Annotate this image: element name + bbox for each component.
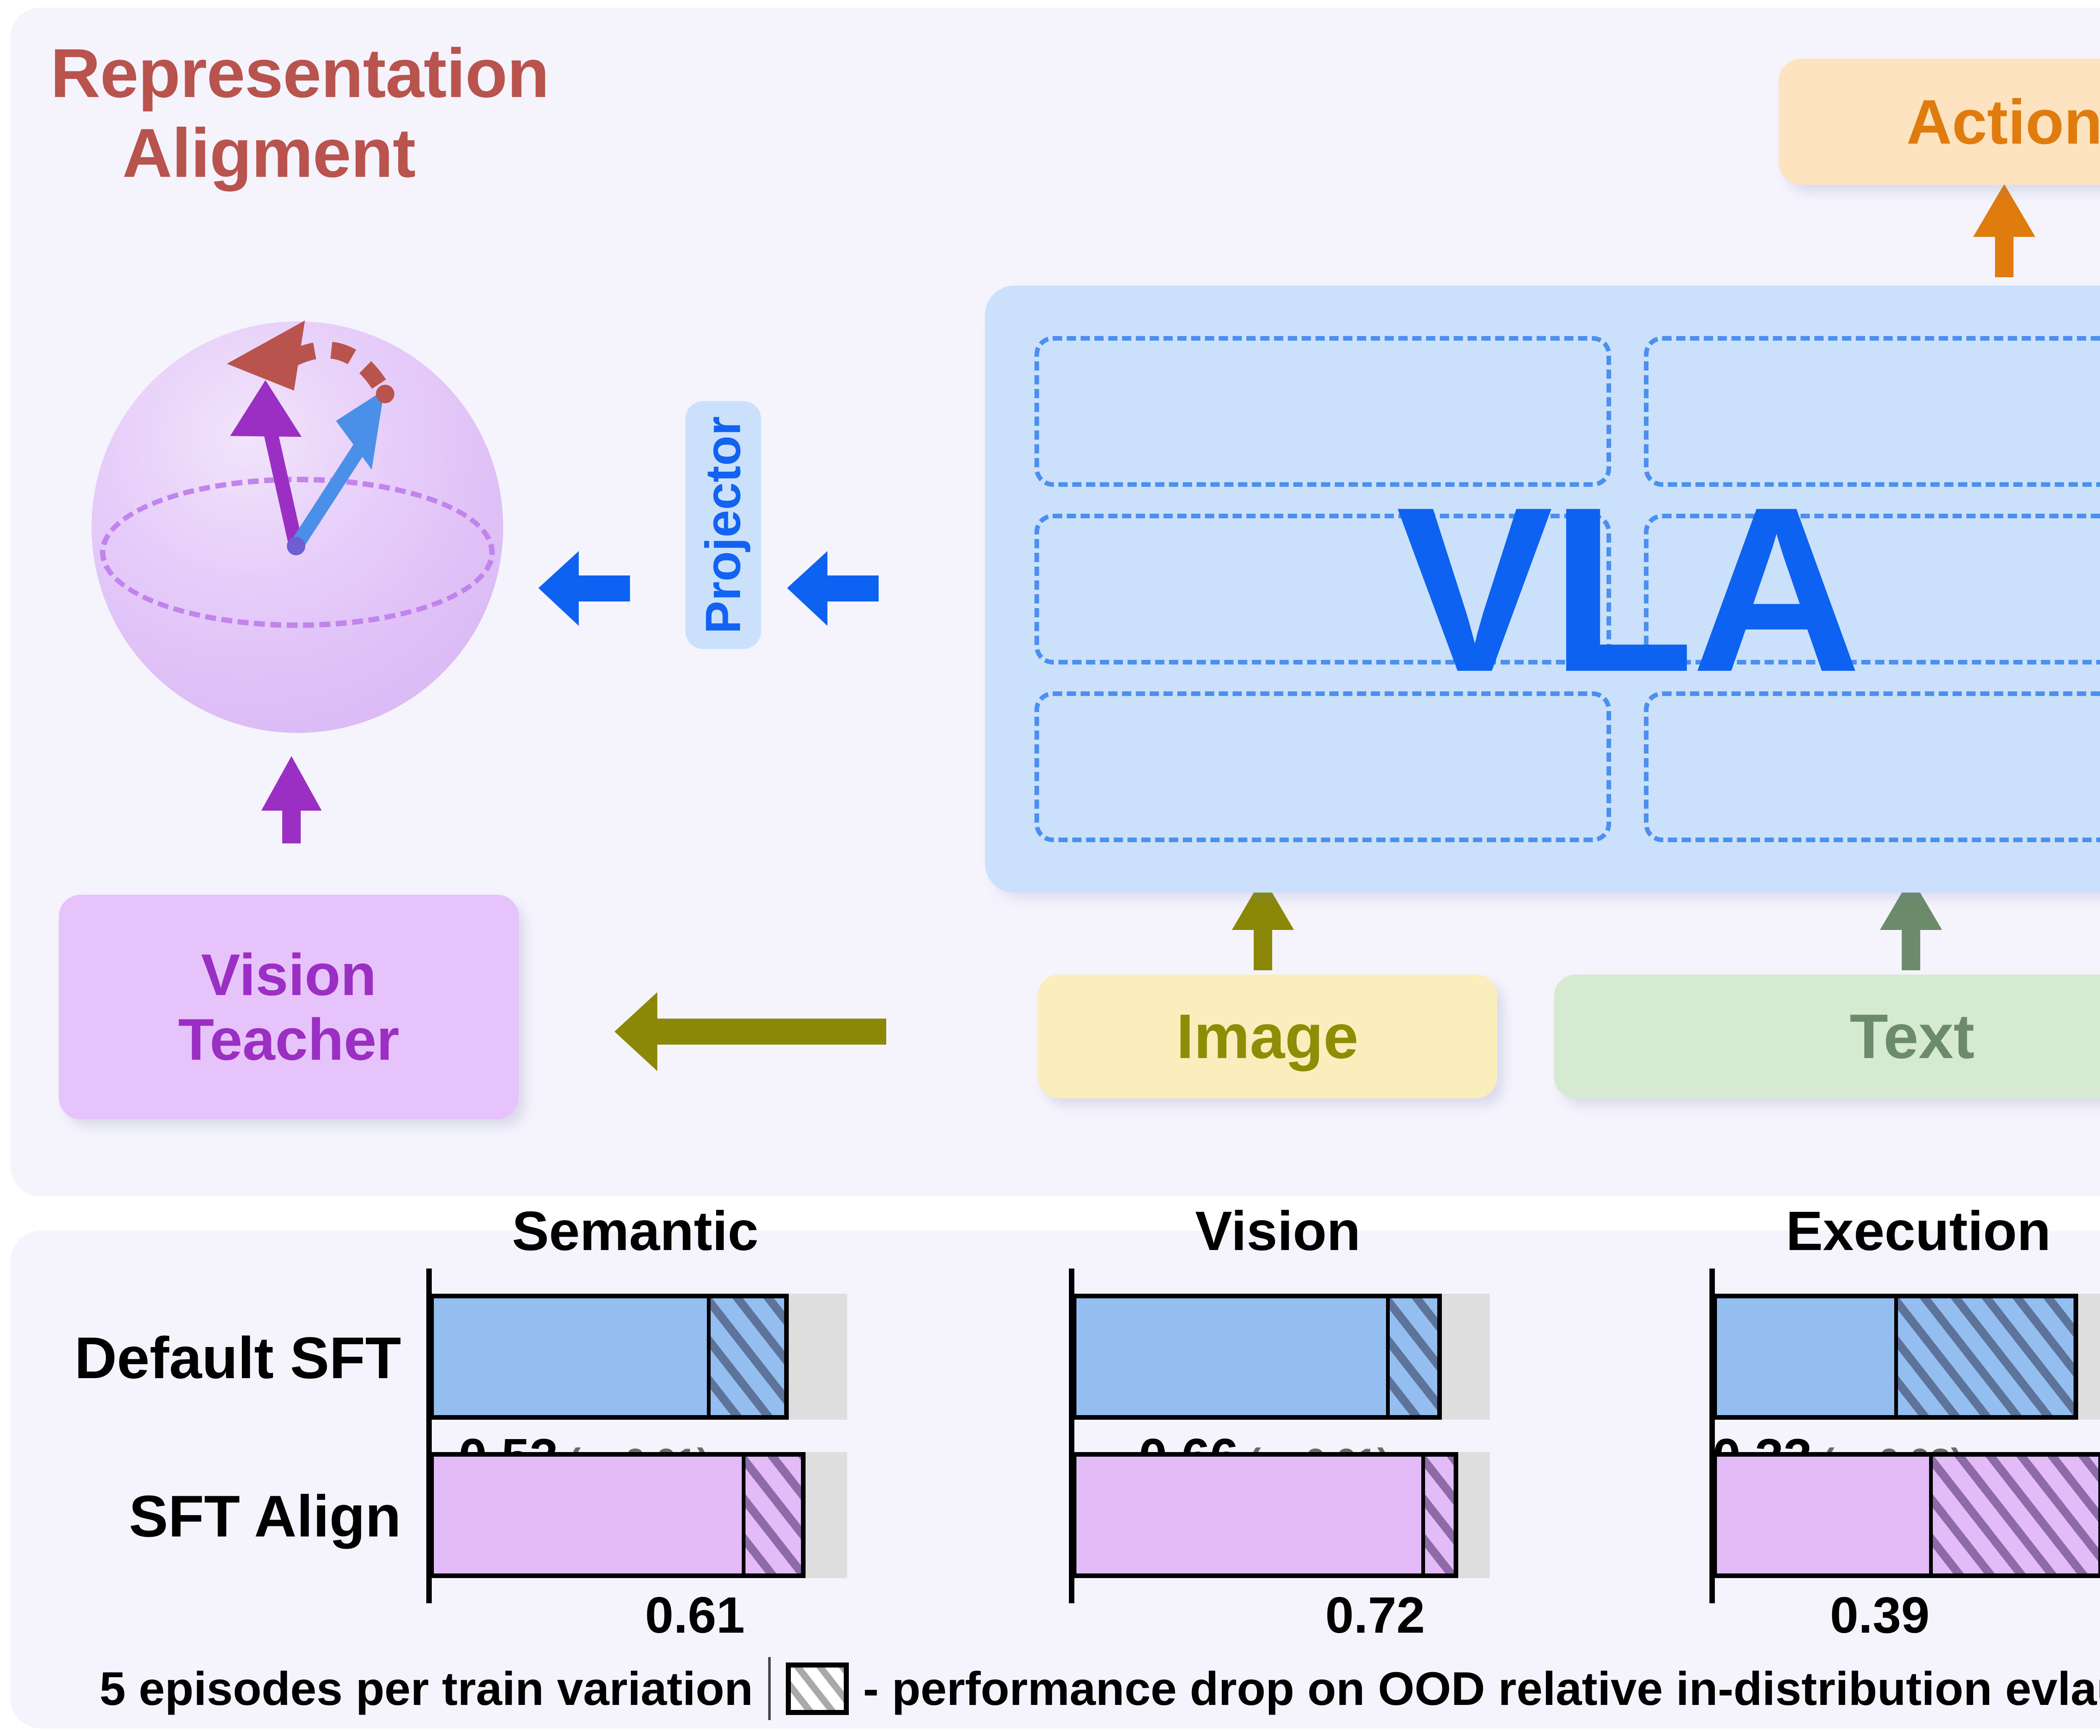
row-label-default-sft: Default SFT xyxy=(15,1324,401,1392)
bar-value-number: 0.72 xyxy=(1325,1586,1425,1644)
legend-divider xyxy=(768,1657,771,1720)
page-title: Representation Aligment xyxy=(50,34,487,193)
bar-segment-ood-drop xyxy=(1421,1457,1454,1573)
page-title-line-1: Representation xyxy=(50,34,487,113)
action-box[interactable]: Action xyxy=(1779,59,2100,185)
bar-vision-default-sft[interactable] xyxy=(1072,1294,1442,1420)
chart-legend: 5 episodes per train variation - perform… xyxy=(10,1657,2100,1720)
legend-hatch-swatch xyxy=(786,1662,849,1715)
bar-vision-sft-align[interactable] xyxy=(1072,1452,1458,1578)
bar-segment-in-distribution xyxy=(1076,1298,1386,1415)
vla-label: VLA xyxy=(985,286,2100,893)
chart-column-title-semantic: Semantic xyxy=(376,1199,895,1263)
bar-segment-ood-drop xyxy=(707,1298,784,1415)
bar-semantic-default-sft[interactable] xyxy=(429,1294,789,1420)
image-label: Image xyxy=(1176,1002,1359,1071)
sphere-equator-dashed-ellipse xyxy=(100,477,495,628)
vla-box[interactable]: VLA xyxy=(985,286,2100,893)
text-label: Text xyxy=(1850,1002,1974,1071)
bar-segment-in-distribution xyxy=(1717,1457,1929,1573)
legend-hatch-meaning: - performance drop on OOD relative in-di… xyxy=(863,1662,2100,1716)
bar-segment-ood-drop xyxy=(1929,1457,2098,1573)
bar-segment-in-distribution xyxy=(434,1457,742,1573)
bar-value-number: 0.39 xyxy=(1830,1586,1929,1644)
bar-segment-ood-drop xyxy=(1894,1298,2074,1415)
text-box[interactable]: Text xyxy=(1554,974,2100,1098)
legend-episodes-note: 5 episodes per train variation xyxy=(100,1662,753,1716)
vision-teacher-label-line-2: Teacher xyxy=(178,1006,399,1072)
bar-execution-sft-align[interactable] xyxy=(1712,1452,2100,1578)
bar-segment-in-distribution xyxy=(1717,1298,1894,1415)
row-label-sft-align: SFT Align xyxy=(15,1482,401,1550)
chart-column-title-execution: Execution xyxy=(1659,1199,2100,1263)
bar-value-label: 0.61 xyxy=(429,1586,745,1644)
action-label: Action xyxy=(1906,87,2100,157)
bar-segment-ood-drop xyxy=(1386,1298,1437,1415)
bar-semantic-sft-align[interactable] xyxy=(429,1452,806,1578)
projector-box[interactable]: Projector xyxy=(685,401,761,649)
bar-value-label: 0.39 xyxy=(1712,1586,1929,1644)
grouped-bar-chart: Default SFTSFT AlignSemantic0.53 (p<0.01… xyxy=(10,1231,2100,1728)
bar-value-label: 0.72 xyxy=(1072,1586,1425,1644)
bar-segment-in-distribution xyxy=(434,1298,707,1415)
bar-execution-default-sft[interactable] xyxy=(1712,1294,2078,1420)
bar-value-number: 0.61 xyxy=(645,1586,745,1644)
chart-column-title-vision: Vision xyxy=(1018,1199,1537,1263)
vision-teacher-box[interactable]: Vision Teacher xyxy=(59,895,519,1119)
bar-segment-in-distribution xyxy=(1076,1457,1421,1573)
projector-label: Projector xyxy=(685,401,761,649)
bar-segment-ood-drop xyxy=(742,1457,801,1573)
vision-teacher-label: Vision Teacher xyxy=(178,943,399,1072)
vision-teacher-label-line-1: Vision xyxy=(201,942,377,1008)
page-title-line-2: Aligment xyxy=(50,113,487,193)
image-box[interactable]: Image xyxy=(1037,974,1497,1098)
